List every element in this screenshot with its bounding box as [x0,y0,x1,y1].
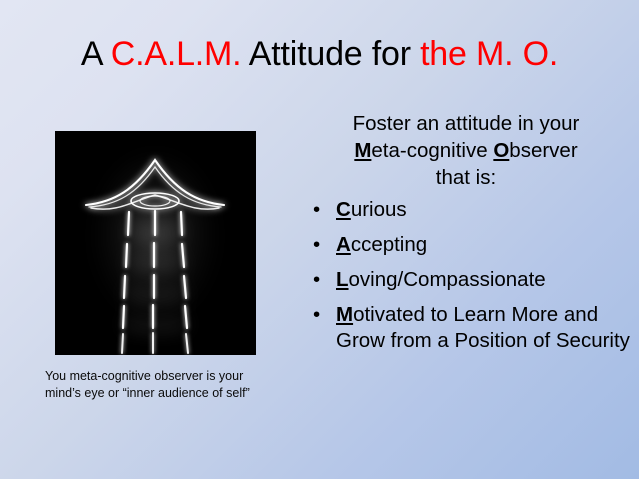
bullet-text: urious [351,198,407,221]
light-painting-artwork [55,131,256,355]
bullet-marker-icon: • [313,302,320,328]
intro-bold-o: O [493,139,509,162]
bullet-text: otivated to Learn More and Grow from a P… [336,303,630,352]
bullet-text: ccepting [351,233,427,256]
photo-caption-line-2: mind’s eye or “inner audience of self” [45,386,250,400]
photo-caption-line-1: You meta-cognitive observer is your [45,369,243,383]
title-part-the-mo: the M. O. [420,35,558,73]
intro-line-1: Foster an attitude in your [353,112,580,135]
light-painting-photo [55,131,256,355]
intro-line-2-end: bserver [509,139,577,162]
list-item: • Curious [296,197,636,223]
bullet-marker-icon: • [313,232,320,258]
intro-line-3: that is: [436,166,496,189]
bullet-initial: M [336,303,353,326]
list-item: • Motivated to Learn More and Grow from … [296,302,636,354]
bullet-initial: C [336,198,351,221]
bullet-marker-icon: • [313,197,320,223]
presentation-slide: A C.A.L.M. Attitude for the M. O. [0,0,639,479]
list-item: • Loving/Compassionate [296,267,636,293]
bullet-initial: L [336,268,349,291]
list-item: • Accepting [296,232,636,258]
bullet-initial: A [336,233,351,256]
title-part-attitude-for: Attitude for [241,35,420,73]
title-part-calm: C.A.L.M. [111,35,242,73]
bullet-marker-icon: • [313,267,320,293]
intro-bold-m: M [354,139,371,162]
photo-caption: You meta-cognitive observer is your mind… [45,368,307,402]
bullet-text: oving/Compassionate [349,268,546,291]
title-part-a: A [81,35,111,73]
calm-bullet-list: • Curious • Accepting • Loving/Compassio… [296,197,636,354]
intro-paragraph: Foster an attitude in your Meta-cognitiv… [296,110,636,191]
body-content-column: Foster an attitude in your Meta-cognitiv… [296,110,636,363]
intro-line-2-mid: eta-cognitive [371,139,493,162]
slide-title: A C.A.L.M. Attitude for the M. O. [0,34,639,74]
